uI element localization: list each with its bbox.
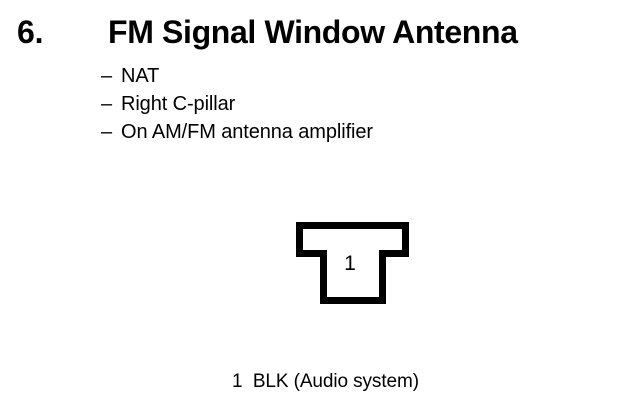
heading-number: 6.	[17, 12, 43, 52]
connector-pin-number: 1	[290, 252, 414, 276]
heading-title: FM Signal Window Antenna	[108, 12, 518, 52]
dash-icon: –	[101, 90, 121, 118]
dash-icon: –	[101, 118, 121, 146]
list-item: – Right C-pillar	[101, 90, 581, 118]
page-title: 6. FM Signal Window Antenna	[0, 12, 640, 56]
list-item-label: NAT	[121, 62, 159, 90]
dash-icon: –	[101, 62, 121, 90]
detail-list: – NAT – Right C-pillar – On AM/FM antenn…	[101, 62, 581, 146]
connector-diagram: 1	[290, 216, 414, 308]
connector-pin-number-value: 1	[344, 252, 356, 275]
page-canvas: 6. FM Signal Window Antenna – NAT – Righ…	[0, 0, 640, 412]
wire-legend-caption: 1 BLK (Audio system)	[232, 370, 419, 394]
list-item: – NAT	[101, 62, 581, 90]
list-item: – On AM/FM antenna amplifier	[101, 118, 581, 146]
list-item-label: Right C-pillar	[121, 90, 235, 118]
list-item-label: On AM/FM antenna amplifier	[121, 118, 373, 146]
